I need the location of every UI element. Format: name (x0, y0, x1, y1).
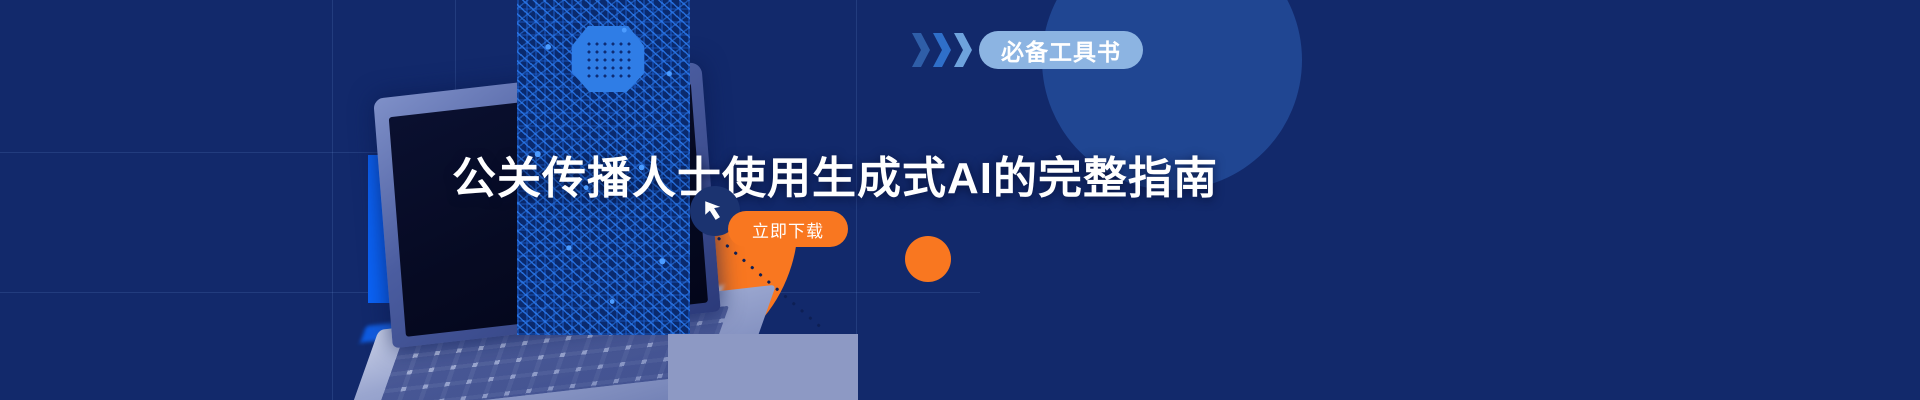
grey-panel (668, 334, 858, 400)
download-button[interactable]: 立即下载 (728, 211, 848, 247)
orange-circle-dot (905, 236, 951, 282)
promo-banner: 必备工具书 公关传播人士使用生成式AI的完整指南 立即下载 (0, 0, 1920, 400)
badge-label: 必备工具书 (979, 31, 1143, 69)
badge: 必备工具书 (908, 31, 1143, 69)
grid-line-vertical (332, 0, 333, 400)
circuit-board-texture (517, 0, 690, 335)
chevron-right-icon (950, 33, 974, 67)
circuit-chip-dots (585, 40, 633, 80)
